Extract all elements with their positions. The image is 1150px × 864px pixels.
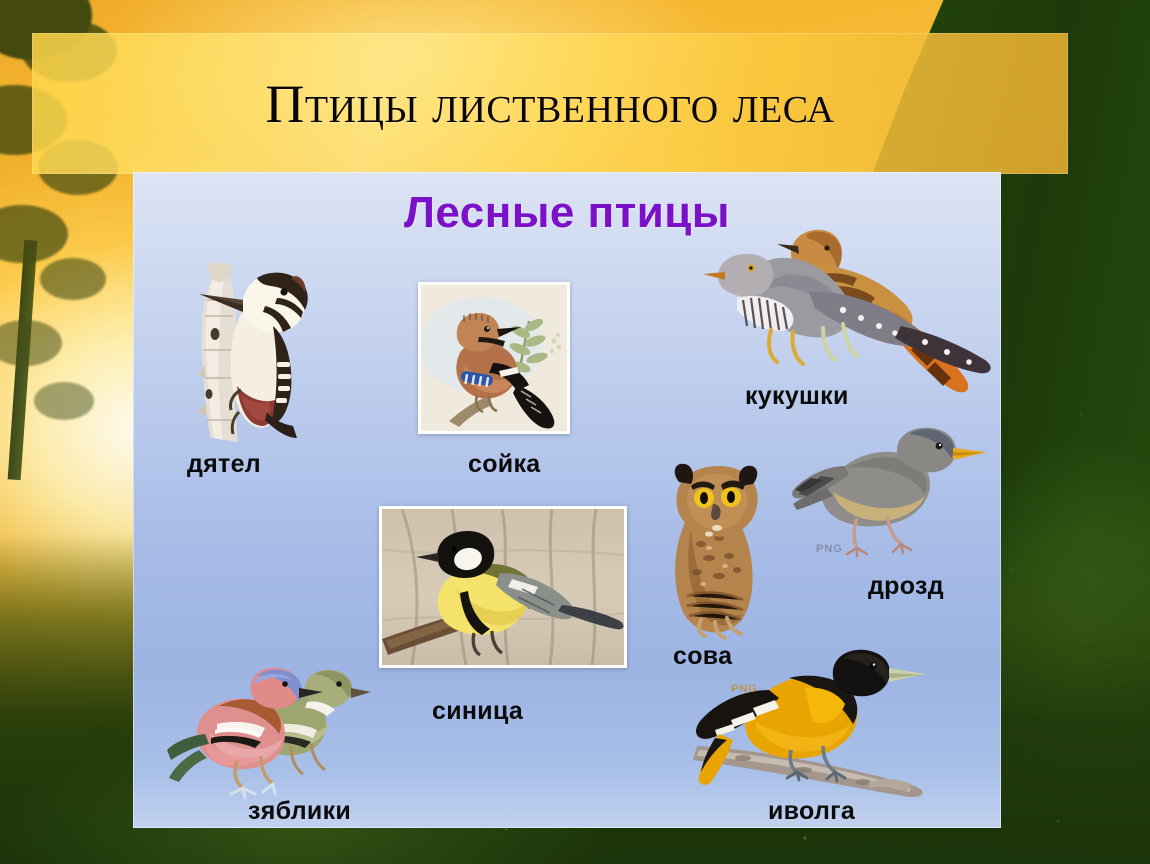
presentation-slide: Птицы лиственного леса Лесные птицы: [0, 0, 1150, 864]
bird-label-drozd: дрозд: [868, 572, 944, 601]
bird-label-ivolga: иволга: [768, 797, 855, 826]
bird-label-zyabliki: зяблики: [248, 797, 351, 826]
bird-label-soyka: сойка: [468, 450, 540, 479]
bird-label-dyatel: дятел: [187, 450, 261, 479]
content-panel: Лесные птицы: [133, 172, 1001, 828]
bird-label-sova: сова: [673, 642, 732, 671]
bird-image-drozd: [791, 422, 989, 562]
bird-image-zyabliki: [165, 650, 375, 802]
title-banner: Птицы лиственного леса: [32, 33, 1068, 174]
bird-image-dyatel: [183, 254, 318, 446]
bird-label-kukushki: кукушки: [745, 382, 849, 411]
bird-image-sova: [657, 460, 785, 642]
png-watermark-drozd: PNG: [816, 543, 843, 555]
png-watermark-sova: PNG: [731, 683, 758, 695]
bird-image-sinitsa: [379, 506, 627, 668]
bird-image-soyka: [418, 282, 570, 434]
bird-label-sinitsa: синица: [432, 697, 523, 726]
page-title: Птицы лиственного леса: [32, 77, 1068, 131]
bird-image-kukushki: [703, 220, 993, 400]
